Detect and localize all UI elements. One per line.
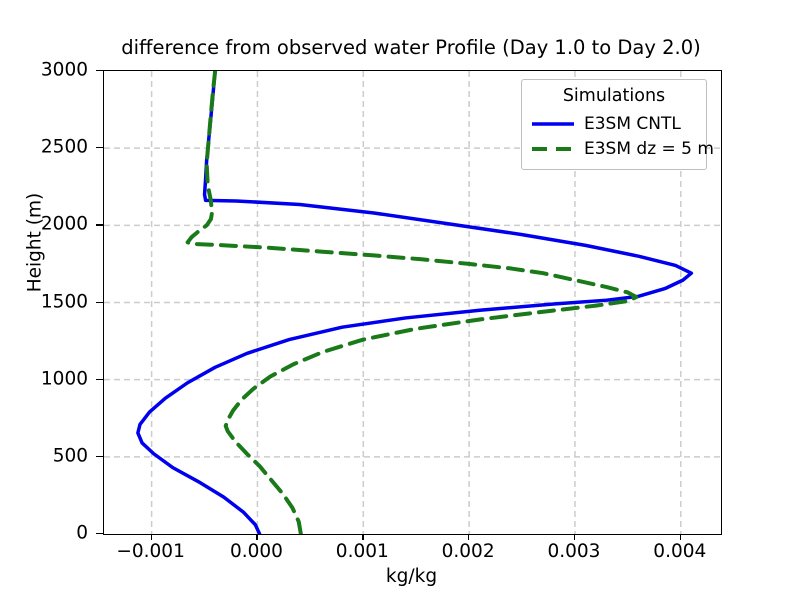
chart-title: difference from observed water Profile (… (0, 36, 800, 59)
y-tick-mark (96, 533, 103, 534)
x-axis-label: kg/kg (103, 566, 720, 587)
x-tick-label: 0.004 (653, 541, 706, 562)
y-tick-label: 1500 (41, 291, 88, 312)
legend-entry-0[interactable]: E3SM CNTL (531, 111, 697, 136)
y-tick-label: 3000 (41, 60, 88, 81)
legend-label: E3SM dz = 5 m (584, 139, 714, 159)
x-tick-label: 0.001 (336, 541, 389, 562)
legend-title: Simulations (531, 86, 697, 106)
y-tick-label: 2500 (41, 137, 88, 158)
x-tick-label: 0.002 (442, 541, 495, 562)
legend-box[interactable]: Simulations E3SM CNTLE3SM dz = 5 m (521, 79, 707, 170)
chart-figure: difference from observed water Profile (… (0, 0, 800, 600)
legend-line-swatch (531, 115, 575, 133)
x-tick-label: 0.000 (230, 541, 283, 562)
legend-line-swatch (531, 140, 575, 158)
x-tick-label: −0.001 (116, 541, 184, 562)
y-tick-label: 0 (76, 523, 88, 544)
y-tick-mark (96, 379, 103, 380)
y-tick-mark (96, 147, 103, 148)
y-tick-mark (96, 224, 103, 225)
y-tick-mark (96, 70, 103, 71)
legend-entry-1[interactable]: E3SM dz = 5 m (531, 136, 697, 161)
y-axis-label: Height (m) (25, 143, 46, 343)
y-tick-mark (96, 456, 103, 457)
legend-entries: E3SM CNTLE3SM dz = 5 m (531, 111, 697, 161)
y-tick-label: 1000 (41, 368, 88, 389)
x-tick-label: 0.003 (547, 541, 600, 562)
y-tick-label: 2000 (41, 214, 88, 235)
y-tick-mark (96, 302, 103, 303)
y-tick-label: 500 (53, 445, 88, 466)
legend-label: E3SM CNTL (584, 114, 681, 134)
